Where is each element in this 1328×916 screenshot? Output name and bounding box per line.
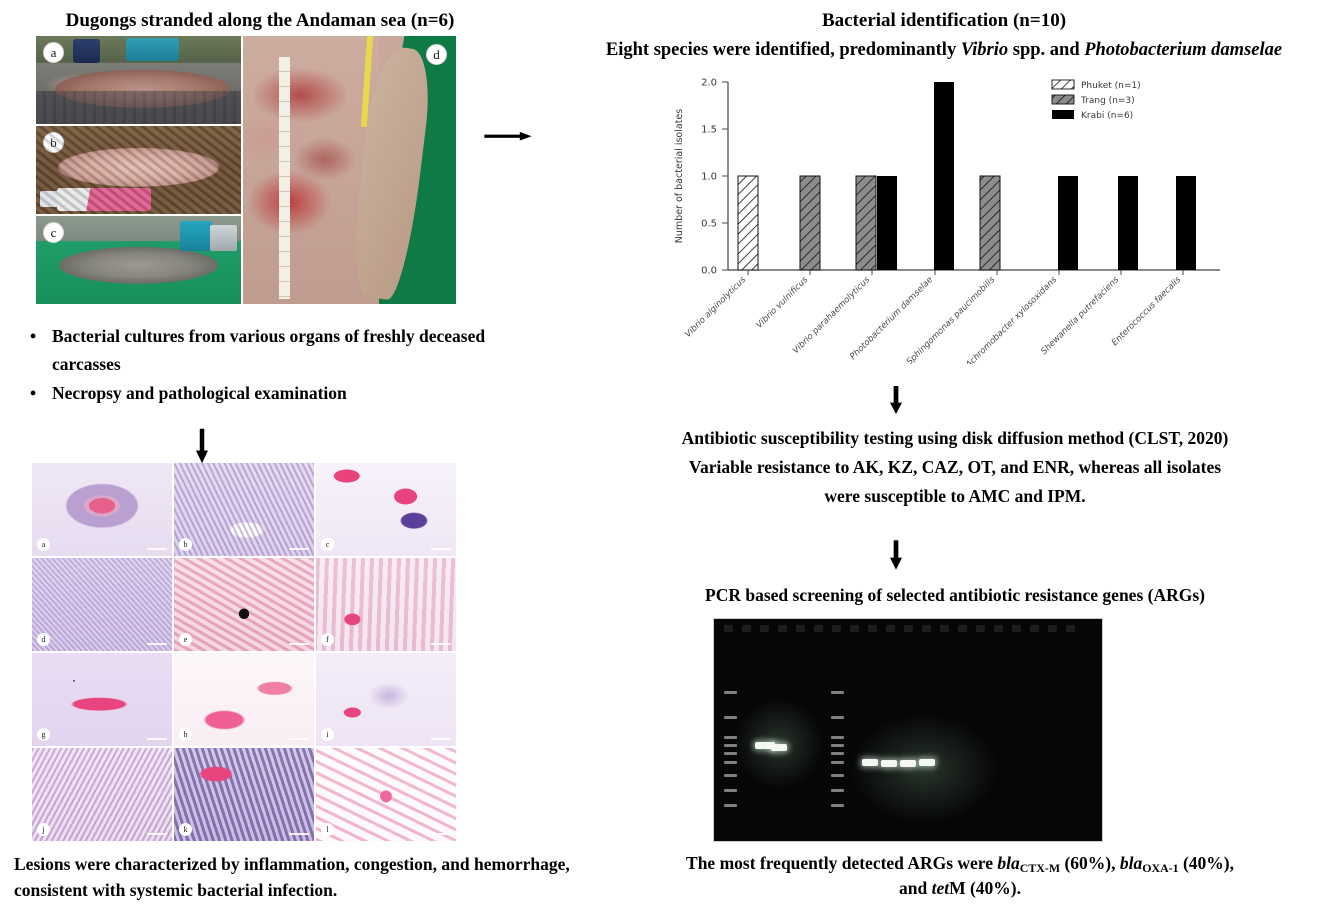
arrow-down-icon bbox=[196, 424, 208, 468]
photo-column-right: d bbox=[243, 36, 456, 304]
bar-krabi-a-xylosoxidans bbox=[1058, 176, 1078, 270]
gel-well bbox=[724, 625, 733, 632]
scale-bar bbox=[431, 738, 451, 740]
histology-label: l bbox=[321, 823, 334, 836]
gel-sample-band bbox=[881, 760, 897, 767]
photo-d-measuring-tape bbox=[279, 57, 290, 298]
gel-well bbox=[922, 625, 931, 632]
bacterial-identification-title: Bacterial identification (n=10) bbox=[822, 10, 1066, 31]
histology-cell: f bbox=[316, 558, 456, 651]
y-tick: 2.0 bbox=[701, 78, 717, 89]
gel-well bbox=[886, 625, 895, 632]
histopathology-grid: a b c d e f g h i j k l bbox=[32, 463, 456, 841]
bar-krabi-p-damselae bbox=[934, 82, 954, 270]
photo-c-drum bbox=[180, 221, 213, 251]
gel-sample-band bbox=[771, 744, 787, 751]
photo-column-left: a b c bbox=[36, 36, 241, 304]
bullet-marker: • bbox=[30, 322, 40, 379]
gel-ladder-band bbox=[831, 736, 844, 739]
scale-bar bbox=[289, 738, 309, 740]
bullet-item-2: • Necropsy and pathological examination bbox=[30, 379, 530, 407]
gel-ladder-band bbox=[831, 804, 844, 807]
gel-well bbox=[814, 625, 823, 632]
gel-well bbox=[1030, 625, 1039, 632]
gel-well bbox=[1012, 625, 1021, 632]
ast-line-3: were susceptible to AMC and IPM. bbox=[590, 482, 1320, 511]
gel-well bbox=[958, 625, 967, 632]
gel-ladder-band bbox=[831, 691, 844, 694]
y-tick: 1.5 bbox=[701, 125, 717, 136]
gel-well bbox=[1066, 625, 1075, 632]
dugong-photo-panel: a b c d bbox=[36, 36, 456, 304]
gel-well bbox=[742, 625, 751, 632]
scale-bar bbox=[289, 548, 309, 550]
scale-bar bbox=[147, 738, 167, 740]
gel-well bbox=[760, 625, 769, 632]
gel-well bbox=[904, 625, 913, 632]
bar-phuket-v-alginolyticus bbox=[738, 176, 758, 270]
histology-label: j bbox=[37, 823, 50, 836]
histology-cell: h bbox=[174, 653, 314, 746]
histology-cell: j bbox=[32, 748, 172, 841]
histology-cell: d bbox=[32, 558, 172, 651]
gene-bla-ctxm: bla bbox=[997, 853, 1019, 873]
histology-cell: g bbox=[32, 653, 172, 746]
gel-ladder-band bbox=[831, 761, 844, 764]
gel-well bbox=[796, 625, 805, 632]
dugong-photo-b: b bbox=[36, 126, 241, 214]
photo-label-b: b bbox=[43, 132, 64, 153]
x-axis-ticks bbox=[748, 270, 1183, 275]
category-label: Enterococcus faecalis bbox=[1110, 275, 1183, 348]
pcr-screening-title: PCR based screening of selected antibiot… bbox=[600, 585, 1310, 606]
dugong-photo-c: c bbox=[36, 216, 241, 304]
gel-ladder-band bbox=[831, 716, 844, 719]
photo-label-c: c bbox=[43, 222, 64, 243]
gel-well bbox=[868, 625, 877, 632]
category-label: Vibrio vulnificus bbox=[755, 275, 811, 331]
antibiotic-susceptibility-block: Antibiotic susceptibility testing using … bbox=[590, 424, 1320, 511]
histology-cell: i bbox=[316, 653, 456, 746]
gene-bla-oxa1-subscript: OXA-1 bbox=[1142, 861, 1178, 875]
bullet-text-1: Bacterial cultures from various organs o… bbox=[52, 322, 530, 379]
histology-label: d bbox=[37, 633, 50, 646]
gel-well bbox=[994, 625, 1003, 632]
gel-sample-band bbox=[919, 759, 935, 766]
arg-caption-line-2: and tetM (40%). bbox=[600, 876, 1320, 901]
y-tick: 0.0 bbox=[701, 266, 717, 277]
scale-bar bbox=[431, 548, 451, 550]
histology-label: c bbox=[321, 538, 334, 551]
gene-tet-rest: M (40%). bbox=[949, 878, 1021, 898]
dugong-photo-a: a bbox=[36, 36, 241, 124]
gene-bla-oxa1: bla bbox=[1120, 853, 1142, 873]
ast-line-1: Antibiotic susceptibility testing using … bbox=[590, 424, 1320, 453]
bullet-marker: • bbox=[30, 379, 40, 407]
arrow-right-icon bbox=[458, 131, 558, 141]
gel-well bbox=[976, 625, 985, 632]
gel-well bbox=[1048, 625, 1057, 632]
scale-bar bbox=[147, 833, 167, 835]
photo-c-cabinet bbox=[210, 225, 237, 251]
photo-a-person bbox=[73, 39, 100, 64]
bar-trang-s-paucimobilis bbox=[980, 176, 1000, 270]
gel-well bbox=[850, 625, 859, 632]
y-tick: 1.0 bbox=[701, 172, 717, 183]
x-axis-category-labels: Vibrio alginolyticus Vibrio vulnificus V… bbox=[683, 275, 1183, 364]
species-summary-pre: Eight species were identified, predomina… bbox=[606, 40, 961, 60]
legend-swatch-trang bbox=[1052, 95, 1074, 104]
histology-label: g bbox=[37, 728, 50, 741]
y-axis-ticks: 0.0 0.5 1.0 1.5 2.0 bbox=[701, 78, 728, 277]
gel-ladder-band bbox=[724, 691, 737, 694]
species-italic-photobacterium: Photobacterium damselae bbox=[1084, 40, 1282, 60]
left-column-title: Dugongs stranded along the Andaman sea (… bbox=[0, 8, 520, 33]
chart-legend: Phuket (n=1) Trang (n=3) Krabi (n=6) bbox=[1052, 80, 1141, 121]
gel-ladder-band bbox=[724, 752, 737, 755]
species-summary-mid: spp. and bbox=[1008, 40, 1084, 60]
left-bottom-caption: Lesions were characterized by inflammati… bbox=[14, 851, 594, 904]
gel-ladder-band bbox=[724, 761, 737, 764]
histology-label: k bbox=[179, 823, 192, 836]
scale-bar bbox=[147, 548, 167, 550]
bar-krabi-v-parahaemolyticus bbox=[877, 176, 897, 270]
species-italic-vibrio: Vibrio bbox=[961, 40, 1008, 60]
photo-label-a: a bbox=[43, 42, 64, 63]
gel-ladder-band bbox=[831, 789, 844, 792]
gel-ladder-band bbox=[724, 736, 737, 739]
gel-electrophoresis-image bbox=[713, 618, 1103, 842]
gel-glow bbox=[849, 714, 999, 824]
dugong-photo-d-lesion: d bbox=[243, 36, 456, 304]
histology-label: e bbox=[179, 633, 192, 646]
category-label: Vibrio alginolyticus bbox=[683, 275, 748, 340]
scale-bar bbox=[289, 643, 309, 645]
gel-ladder-band bbox=[724, 789, 737, 792]
arg-caption-pre: The most frequently detected ARGs were bbox=[686, 853, 997, 873]
arrow-down-to-pcr bbox=[890, 533, 902, 582]
photo-a-bucket bbox=[126, 38, 179, 61]
gel-well bbox=[778, 625, 787, 632]
histology-label: f bbox=[321, 633, 334, 646]
gene-tet: tet bbox=[932, 878, 950, 898]
scale-bar bbox=[289, 833, 309, 835]
gel-well bbox=[940, 625, 949, 632]
bacterial-isolates-bar-chart: Number of bacterial isolates 0.0 0.5 1.0… bbox=[660, 74, 1240, 364]
y-tick: 0.5 bbox=[701, 219, 717, 230]
histology-cell: b bbox=[174, 463, 314, 556]
gel-sample-band bbox=[900, 760, 916, 767]
methods-bullet-list: • Bacterial cultures from various organs… bbox=[30, 322, 530, 407]
legend-label-krabi: Krabi (n=6) bbox=[1081, 111, 1133, 121]
gel-ladder-band bbox=[831, 752, 844, 755]
histology-cell: e bbox=[174, 558, 314, 651]
gel-ladder-band bbox=[724, 804, 737, 807]
y-axis-label: Number of bacterial isolates bbox=[674, 109, 685, 243]
gel-ladder-band bbox=[724, 744, 737, 747]
bullet-text-2: Necropsy and pathological examination bbox=[52, 379, 347, 407]
photo-b-sack bbox=[40, 191, 81, 207]
arrow-down-icon bbox=[890, 533, 902, 577]
gel-ladder-band bbox=[831, 774, 844, 777]
legend-label-phuket: Phuket (n=1) bbox=[1081, 81, 1141, 91]
arg-caption-line-1: The most frequently detected ARGs were b… bbox=[600, 851, 1320, 876]
histology-label: i bbox=[321, 728, 334, 741]
arrow-right-to-bacteria bbox=[458, 128, 558, 146]
gel-well bbox=[832, 625, 841, 632]
bullet-item-1: • Bacterial cultures from various organs… bbox=[30, 322, 530, 379]
legend-swatch-phuket bbox=[1052, 80, 1074, 89]
gene-bla-ctxm-subscript: CTX-M bbox=[1020, 861, 1060, 875]
histology-cell: c bbox=[316, 463, 456, 556]
bar-trang-v-parahaemolyticus bbox=[856, 176, 876, 270]
bar-trang-v-vulnificus bbox=[800, 176, 820, 270]
legend-swatch-krabi bbox=[1052, 110, 1074, 119]
ast-line-2: Variable resistance to AK, KZ, CAZ, OT, … bbox=[590, 453, 1320, 482]
gel-ladder-band bbox=[724, 774, 737, 777]
scale-bar bbox=[431, 643, 451, 645]
histology-cell: a bbox=[32, 463, 172, 556]
histology-label: h bbox=[179, 728, 192, 741]
species-summary-line: Eight species were identified, predomina… bbox=[560, 38, 1328, 62]
legend-label-trang: Trang (n=3) bbox=[1080, 96, 1135, 106]
bar-krabi-s-putrefaciens bbox=[1118, 176, 1138, 270]
right-column-title: Bacterial identification (n=10) Eight sp… bbox=[560, 8, 1328, 62]
histology-cell: l bbox=[316, 748, 456, 841]
gel-ladder-band bbox=[831, 744, 844, 747]
histology-label: a bbox=[37, 538, 50, 551]
gel-ladder-band bbox=[724, 716, 737, 719]
arrow-down-to-ast bbox=[890, 378, 902, 427]
scale-bar bbox=[147, 643, 167, 645]
scale-bar bbox=[431, 833, 451, 835]
histology-label: b bbox=[179, 538, 192, 551]
arg-caption-line2-pre: and bbox=[899, 878, 932, 898]
right-bottom-caption: The most frequently detected ARGs were b… bbox=[600, 851, 1320, 902]
gene1-percent: (60%), bbox=[1060, 853, 1120, 873]
histology-cell: k bbox=[174, 748, 314, 841]
bar-krabi-e-faecalis bbox=[1176, 176, 1196, 270]
photo-label-d: d bbox=[426, 44, 447, 65]
photo-b-pink-bag bbox=[57, 188, 151, 212]
gene2-percent: (40%), bbox=[1179, 853, 1234, 873]
arrow-down-icon bbox=[890, 378, 902, 422]
gel-sample-band bbox=[862, 759, 878, 766]
bar-chart-svg: Number of bacterial isolates 0.0 0.5 1.0… bbox=[660, 74, 1240, 364]
